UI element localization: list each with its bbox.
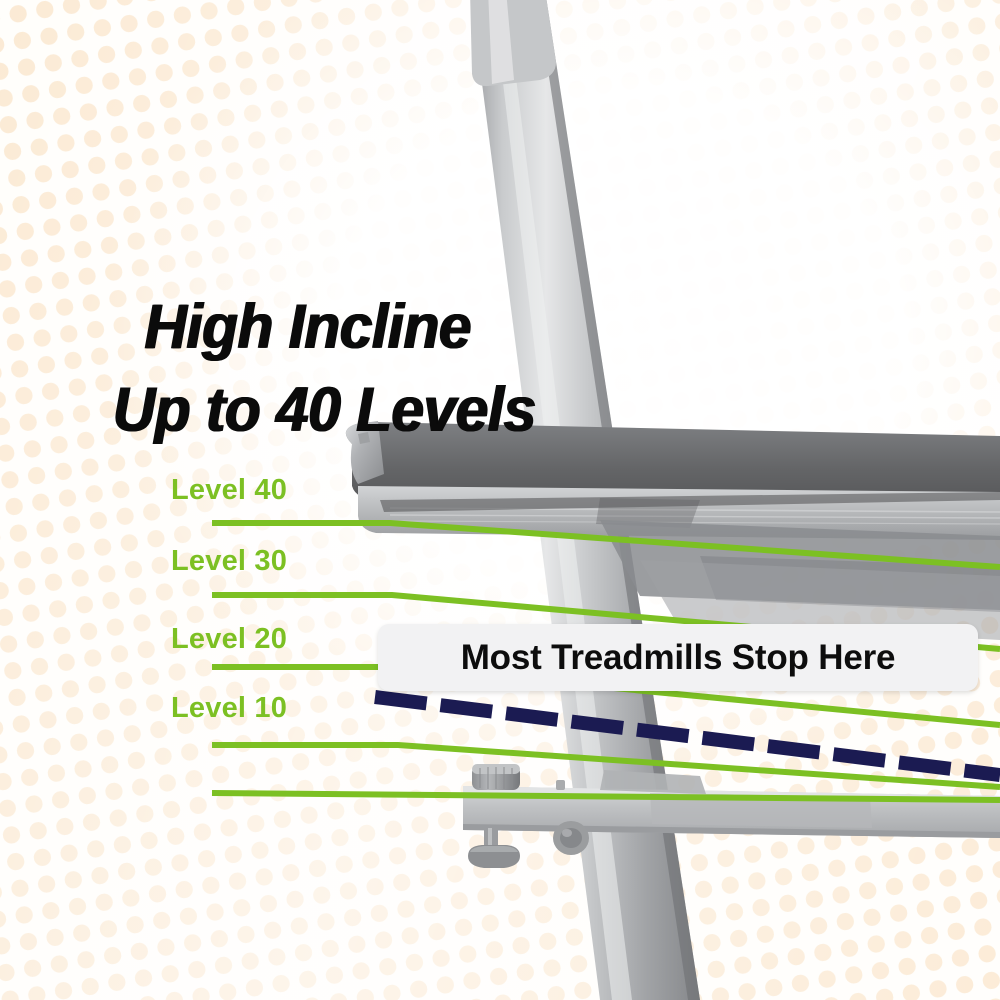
headline-line-1: High Incline <box>112 286 535 370</box>
page-title: High InclineUp to 40 Levels <box>112 118 535 621</box>
headline-line-2: Up to 40 Levels <box>112 369 535 453</box>
transport-wheel <box>553 821 589 855</box>
level-label-20: Level 20 <box>171 623 287 656</box>
promo-image: High InclineUp to 40 Levels Level 40 Lev… <box>0 0 1000 1000</box>
adjustment-knob <box>472 764 520 790</box>
level-label-10: Level 10 <box>171 692 287 725</box>
most-treadmills-callout: Most Treadmills Stop Here <box>378 624 978 691</box>
callout-label: Most Treadmills Stop Here <box>461 638 896 678</box>
treadmill-base-frame <box>463 764 1000 868</box>
leveler-foot <box>468 828 520 868</box>
